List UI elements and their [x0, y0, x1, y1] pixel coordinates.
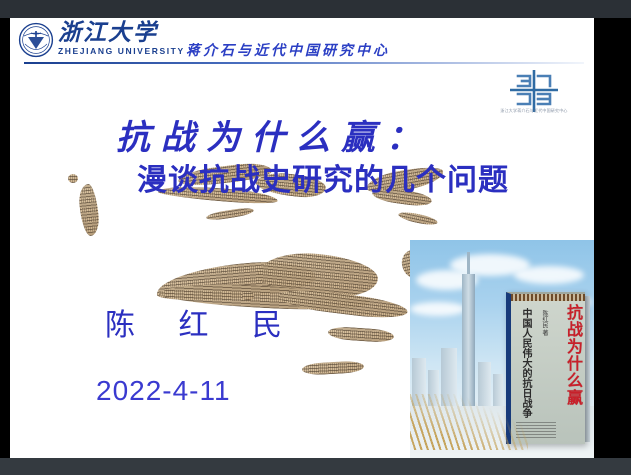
- letterbox-right: [594, 18, 631, 458]
- cloud-shape: [410, 302, 466, 316]
- presentation-slide: 浙江大学 ZHEJIANG UNIVERSITY 蒋介石与近代中国研究中心: [10, 18, 594, 458]
- slide-title-main: 抗战为什么赢：: [116, 110, 536, 159]
- media-viewport: 浙江大学 ZHEJIANG UNIVERSITY 蒋介石与近代中国研究中心: [0, 0, 631, 475]
- header-divider: [24, 62, 584, 64]
- speaker-name: 陈 红 民: [105, 300, 300, 344]
- university-wordmark: 浙江大学 ZHEJIANG UNIVERSITY: [58, 21, 185, 57]
- university-name-en: ZHEJIANG UNIVERSITY: [58, 46, 185, 57]
- letterbox-bottom: [0, 458, 631, 475]
- book-author-text: 陈红民 著: [537, 310, 547, 336]
- cloud-shape: [514, 266, 584, 284]
- slide-title-sub: 漫谈抗战史研究的几个问题: [88, 155, 558, 199]
- letterbox-top: [0, 0, 631, 18]
- zhejiang-university-seal-icon: [18, 22, 54, 58]
- book-title-text: 抗战为什么赢: [561, 304, 581, 406]
- wheat-stalks-decoration: [410, 394, 528, 450]
- letterbox-left: [0, 18, 10, 458]
- slide-header: 浙江大学 ZHEJIANG UNIVERSITY 蒋介石与近代中国研究中心: [10, 18, 594, 60]
- research-center-name: 蒋介石与近代中国研究中心: [186, 40, 390, 60]
- photo-watermark: [470, 446, 590, 458]
- book-cover-photograph: 抗战为什么赢 中国人民伟大的抗日战争 陈红民 著: [410, 240, 594, 458]
- university-name-cn: 浙江大学: [58, 21, 185, 45]
- book-top-band: [511, 294, 585, 301]
- talk-date: 2022-4-11: [96, 375, 231, 407]
